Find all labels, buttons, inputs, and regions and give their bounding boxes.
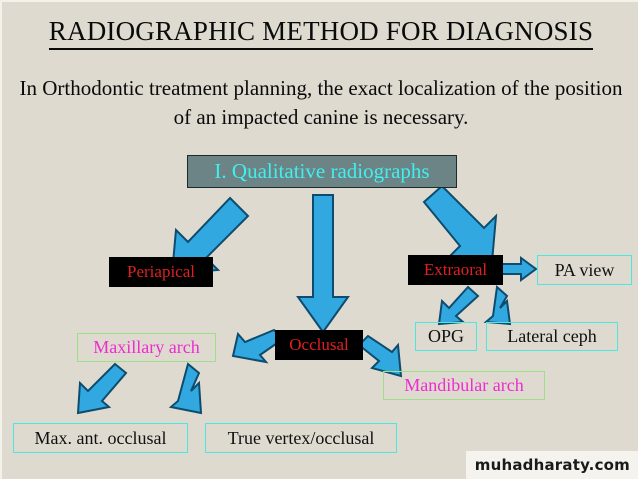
node-pa-view[interactable]: PA view <box>537 255 632 285</box>
node-maxillary-arch-label: Maxillary arch <box>93 337 199 358</box>
node-true-vertex-occlusal[interactable]: True vertex/occlusal <box>205 423 397 453</box>
arrow-extraoral-to-opg <box>439 287 478 324</box>
arrow-occlusal-to-mandibular <box>359 336 401 376</box>
arrow-head-to-extraoral <box>424 186 496 262</box>
page-title: RADIOGRAPHIC METHOD FOR DIAGNOSIS <box>2 16 638 47</box>
node-mandibular-arch-label: Mandibular arch <box>404 375 523 396</box>
node-occlusal[interactable]: Occlusal <box>275 330 363 360</box>
node-max-ant-occlusal-label: Max. ant. occlusal <box>35 428 167 449</box>
node-true-vertex-occlusal-label: True vertex/occlusal <box>228 428 375 449</box>
node-occlusal-label: Occlusal <box>289 335 348 355</box>
node-opg-label: OPG <box>428 326 464 347</box>
slide-canvas: RADIOGRAPHIC METHOD FOR DIAGNOSIS In Ort… <box>0 0 638 479</box>
arrow-maxillary-to-max-ant-occlusal <box>78 364 126 413</box>
watermark-text: muhadharaty.com <box>475 456 630 474</box>
node-lateral-ceph[interactable]: Lateral ceph <box>486 322 618 351</box>
arrow-extraoral-to-lateral-ceph <box>486 287 510 324</box>
node-extraoral[interactable]: Extraoral <box>408 255 503 285</box>
node-periapical-label: Periapical <box>127 262 195 282</box>
node-lateral-ceph-label: Lateral ceph <box>507 326 596 347</box>
node-qualitative-radiographs-label: I. Qualitative radiographs <box>214 159 429 184</box>
node-opg[interactable]: OPG <box>415 322 477 351</box>
node-extraoral-label: Extraoral <box>424 260 487 280</box>
arrow-extraoral-to-pa-view <box>502 258 536 280</box>
node-mandibular-arch[interactable]: Mandibular arch <box>383 371 545 400</box>
slide-subtitle: In Orthodontic treatment planning, the e… <box>16 74 626 132</box>
arrow-head-to-occlusal <box>298 195 348 332</box>
node-qualitative-radiographs[interactable]: I. Qualitative radiographs <box>187 155 457 188</box>
page-title-text: RADIOGRAPHIC METHOD FOR DIAGNOSIS <box>49 16 593 50</box>
watermark: muhadharaty.com <box>466 451 638 479</box>
arrow-maxillary-to-true-vertex <box>171 364 201 413</box>
node-maxillary-arch[interactable]: Maxillary arch <box>77 333 216 362</box>
node-periapical[interactable]: Periapical <box>109 257 213 287</box>
node-pa-view-label: PA view <box>555 260 615 281</box>
node-max-ant-occlusal[interactable]: Max. ant. occlusal <box>13 423 188 453</box>
